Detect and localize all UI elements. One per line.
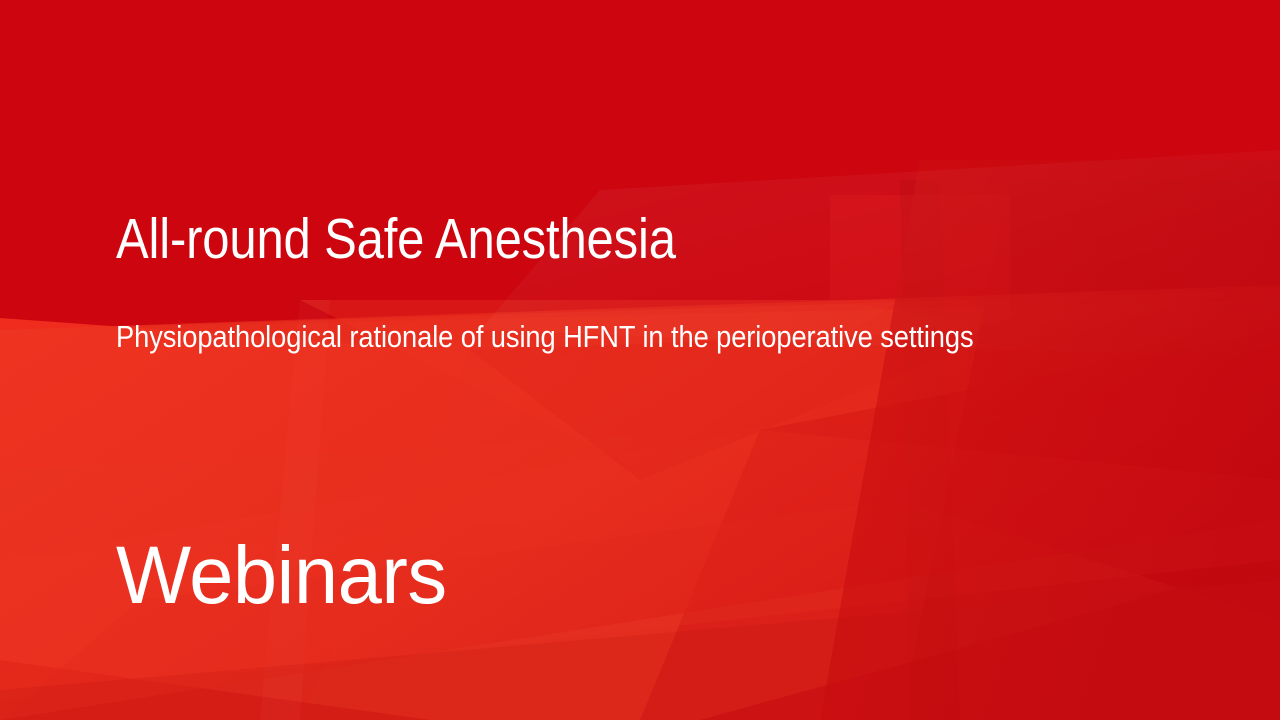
slide-subtitle: Physiopathological rationale of using HF… — [116, 313, 1005, 361]
webinar-title-slide: All-round Safe Anesthesia Physiopatholog… — [0, 0, 1280, 720]
slide-title: All-round Safe Anesthesia — [116, 206, 676, 272]
slide-category-word: Webinars — [116, 530, 447, 622]
